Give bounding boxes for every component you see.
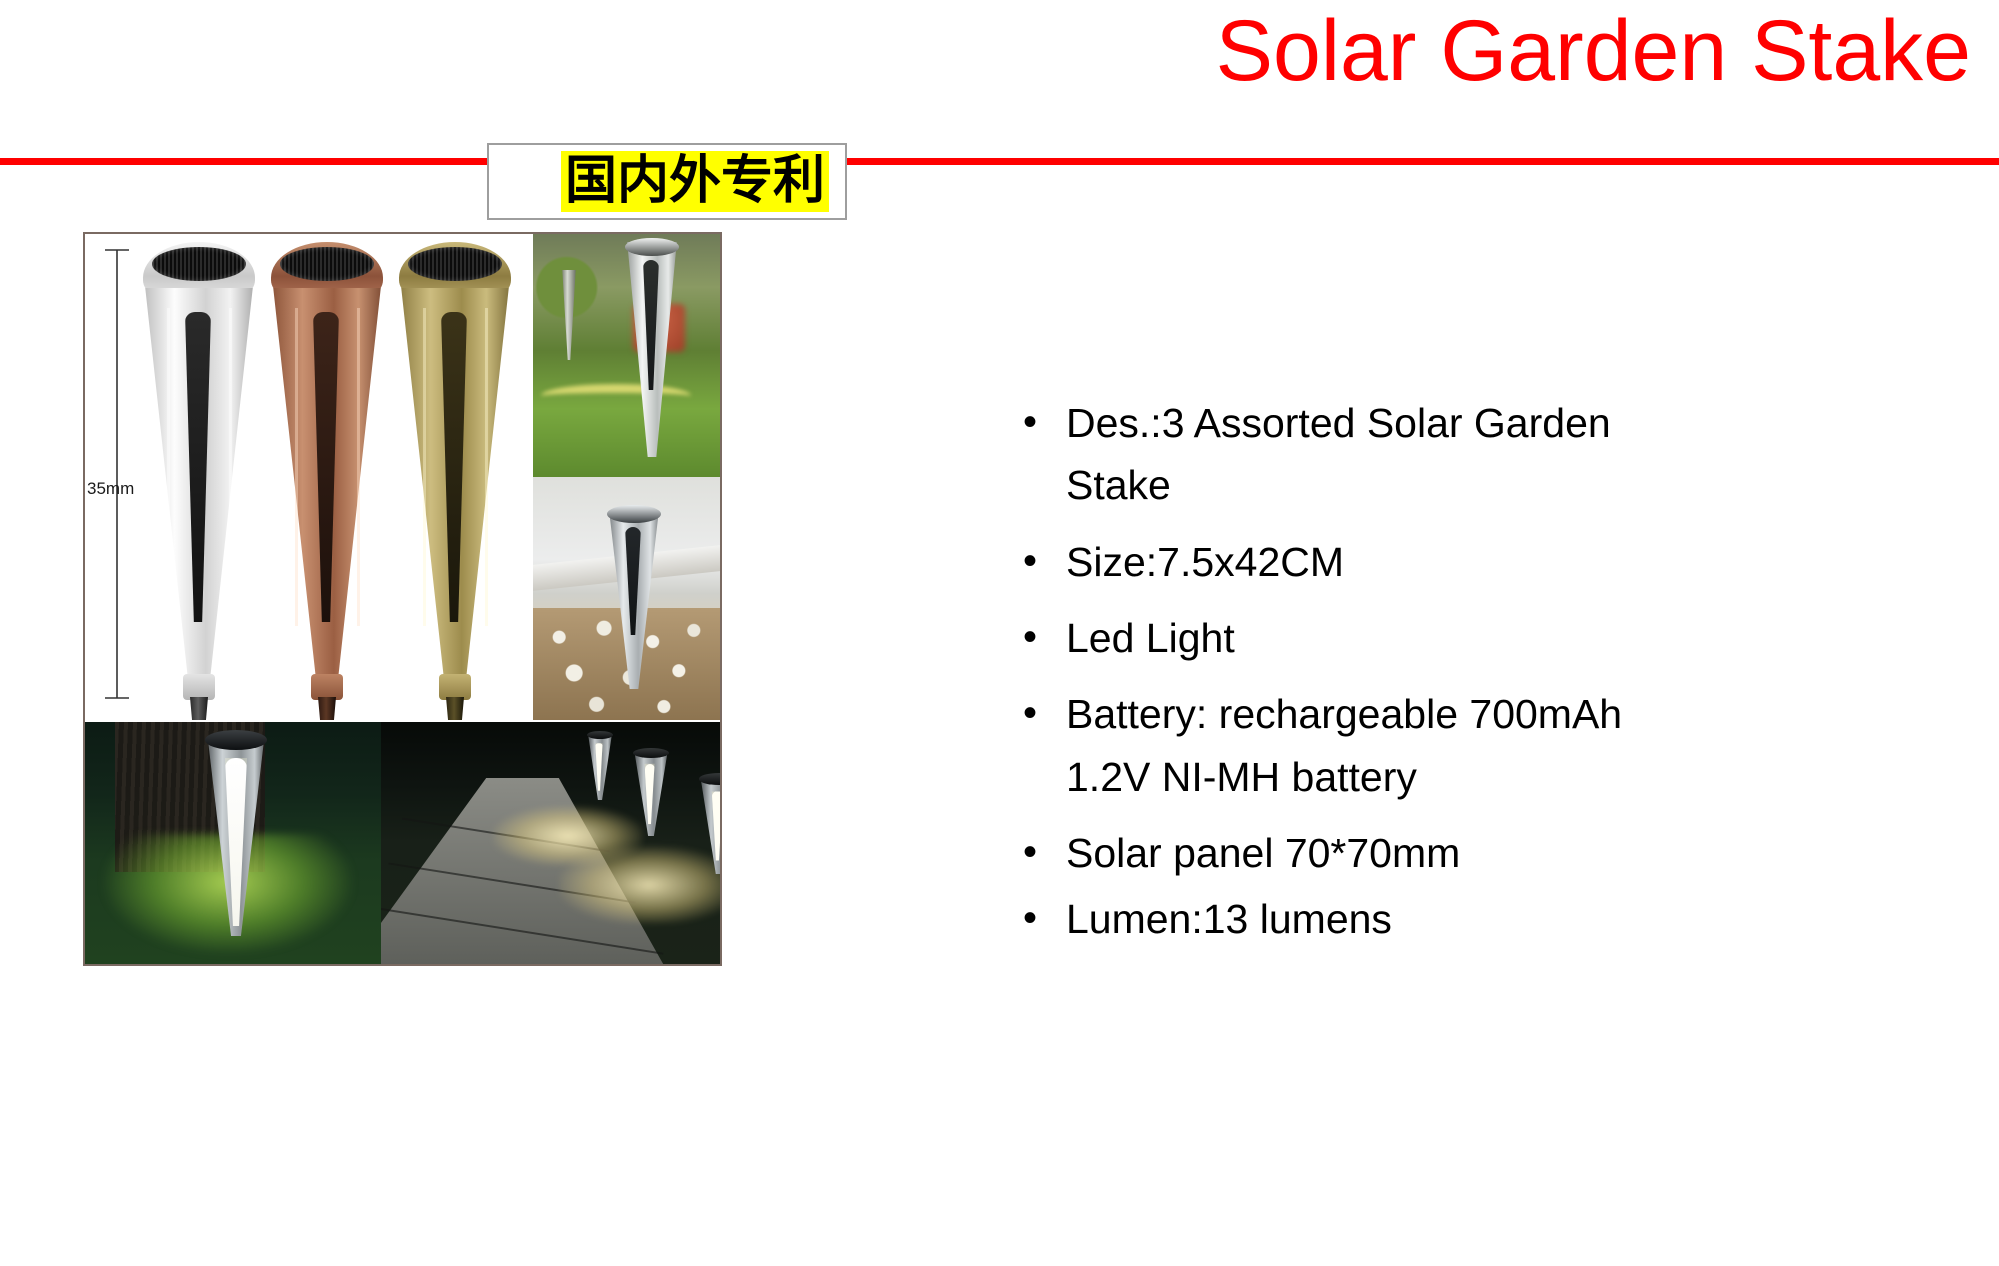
spec-item-led: • Led Light xyxy=(1020,607,1920,669)
title-bar: Solar Garden Stake xyxy=(0,0,1999,160)
copper-stake-rib-left xyxy=(295,308,298,626)
brass-stake-spike xyxy=(446,697,464,720)
bullet-icon: • xyxy=(1020,531,1066,592)
patent-badge: 国内外专利 xyxy=(487,143,847,220)
silver-stake xyxy=(143,242,255,712)
spec-battery-text: Battery: rechargeable 700mAh 1.2V NI-MH … xyxy=(1066,683,1622,808)
bullet-icon: • xyxy=(1020,822,1066,883)
spec-item-size: • Size:7.5x42CM xyxy=(1020,531,1920,593)
garden-stake-far xyxy=(561,270,577,360)
spec-battery-line1: Battery: rechargeable 700mAh xyxy=(1066,683,1622,745)
garden-stake-near-cap xyxy=(625,238,679,256)
brass-stake-rib-left xyxy=(423,308,426,626)
photo-column xyxy=(533,234,720,720)
night-stake-far xyxy=(587,734,613,800)
spec-description-text: Des.:3 Assorted Solar Garden Stake xyxy=(1066,392,1611,517)
night-walkway-photo xyxy=(381,722,720,964)
copper-stake-collar xyxy=(311,674,343,700)
product-render-image: 35mm xyxy=(85,234,533,720)
garden-hose xyxy=(541,384,691,408)
silver-stake-spike xyxy=(190,697,208,720)
night-stake-cap xyxy=(205,730,267,750)
silver-stake-collar xyxy=(183,674,215,700)
spec-description-line1: Des.:3 Assorted Solar Garden xyxy=(1066,392,1611,454)
bullet-icon: • xyxy=(1020,607,1066,668)
night-stake-near xyxy=(699,778,720,874)
title-divider-rule xyxy=(0,158,1999,165)
spec-led-text: Led Light xyxy=(1066,607,1235,669)
solar-panel-icon xyxy=(152,247,246,281)
night-photo-row xyxy=(85,722,720,964)
spec-list: • Des.:3 Assorted Solar Garden Stake • S… xyxy=(1020,392,1920,955)
brass-stake-collar xyxy=(439,674,471,700)
pathway-pebbles-photo xyxy=(533,477,720,720)
night-stake-mid xyxy=(633,752,669,836)
page-title: Solar Garden Stake xyxy=(1216,6,1971,96)
dimension-label: 35mm xyxy=(87,479,134,499)
spec-description-line2: Stake xyxy=(1066,454,1611,516)
solar-panel-icon xyxy=(408,247,502,281)
spec-lumen-text: Lumen:13 lumens xyxy=(1066,888,1392,950)
slide-canvas: Solar Garden Stake 国内外专利 35mm xyxy=(0,0,1999,1266)
media-panel: 35mm xyxy=(83,232,722,966)
bullet-icon: • xyxy=(1020,392,1066,453)
pathway-stake-cap xyxy=(607,505,661,523)
solar-panel-icon xyxy=(280,247,374,281)
spec-item-description: • Des.:3 Assorted Solar Garden Stake xyxy=(1020,392,1920,517)
spec-item-solar-panel: • Solar panel 70*70mm xyxy=(1020,822,1920,884)
garden-daylight-photo xyxy=(533,234,720,477)
night-stake-mid-cap xyxy=(633,748,669,758)
patent-badge-label: 国内外专利 xyxy=(561,151,829,211)
silver-stake-rib-right xyxy=(229,308,232,626)
copper-stake-rib-right xyxy=(357,308,360,626)
spec-solar-panel-text: Solar panel 70*70mm xyxy=(1066,822,1460,884)
night-stake-far-cap xyxy=(587,731,613,739)
light-pool xyxy=(559,846,720,924)
bullet-icon: • xyxy=(1020,888,1066,949)
dimension-line-icon xyxy=(97,246,137,706)
bullet-icon: • xyxy=(1020,683,1066,744)
spec-item-battery: • Battery: rechargeable 700mAh 1.2V NI-M… xyxy=(1020,683,1920,808)
spec-battery-line2: 1.2V NI-MH battery xyxy=(1066,746,1622,808)
night-grass-photo xyxy=(85,722,381,964)
copper-stake xyxy=(271,242,383,712)
brass-stake xyxy=(399,242,511,712)
copper-stake-spike xyxy=(318,697,336,720)
spec-size-text: Size:7.5x42CM xyxy=(1066,531,1344,593)
silver-stake-rib-left xyxy=(167,308,170,626)
brass-stake-rib-right xyxy=(485,308,488,626)
spec-item-lumen: • Lumen:13 lumens xyxy=(1020,888,1920,950)
